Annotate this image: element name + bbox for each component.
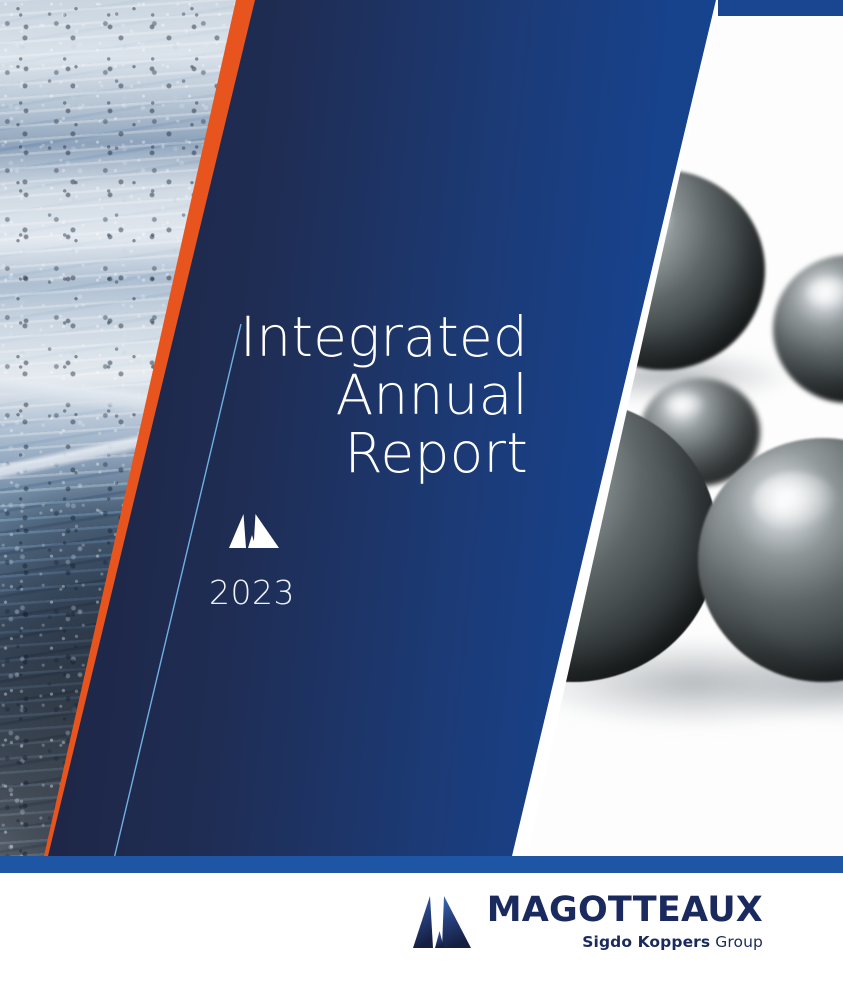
magotteaux-tagline: Sigdo Koppers Group — [582, 932, 763, 952]
cover-footer: MAGOTTEAUX Sigdo Koppers Group — [0, 873, 843, 981]
cover-year: 2023 — [209, 574, 295, 612]
bottom-accent-bar — [0, 856, 843, 873]
cover-title-line-1: Integrated — [0, 308, 556, 366]
magotteaux-logo: MAGOTTEAUX Sigdo Koppers Group — [411, 891, 763, 952]
magotteaux-wordmark: MAGOTTEAUX — [487, 891, 763, 929]
tagline-bold: Sigdo Koppers — [582, 933, 710, 951]
cover-title-line-2: Annual — [0, 366, 556, 424]
cover-title-block: Integrated Annual Report — [0, 308, 556, 482]
report-cover-page: Integrated Annual Report 2023 — [0, 0, 843, 981]
magotteaux-peaks-icon — [411, 893, 473, 951]
magotteaux-peaks-icon — [227, 512, 281, 550]
magotteaux-logo-text: MAGOTTEAUX Sigdo Koppers Group — [487, 891, 763, 952]
top-accent-bar — [718, 0, 843, 16]
cover-title-line-3: Report — [0, 424, 556, 482]
tagline-light: Group — [715, 933, 763, 951]
